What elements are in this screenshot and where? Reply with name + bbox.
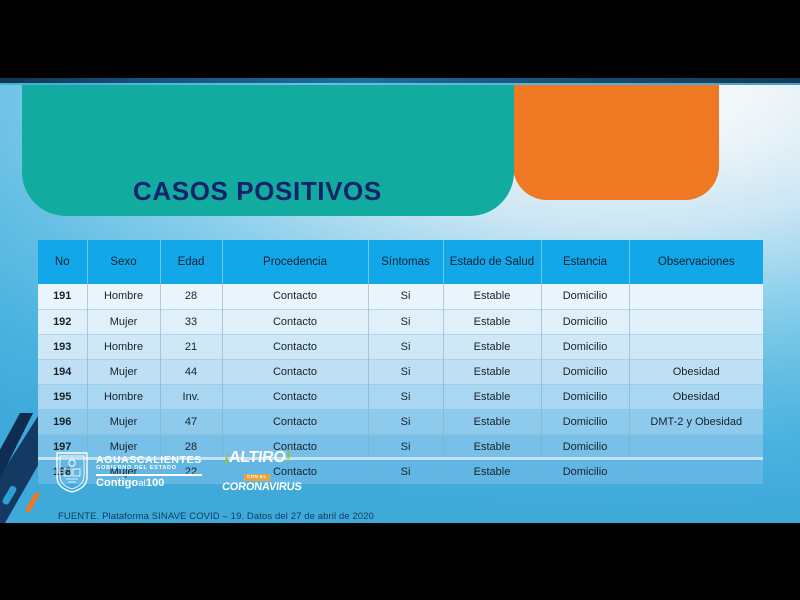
cell-edad: 47	[160, 409, 222, 434]
altiro-sub: CORONAVIRUS	[221, 482, 292, 493]
cell-estancia: Domicilio	[541, 359, 629, 384]
cell-sexo: Mujer	[87, 409, 160, 434]
cell-estancia: Domicilio	[541, 409, 629, 434]
page-title: CASOS POSITIVOS	[133, 176, 382, 207]
cell-estancia: Domicilio	[541, 309, 629, 334]
cell-edad: 44	[160, 359, 222, 384]
column-header-no: No	[38, 240, 87, 284]
cell-edad: Inv.	[160, 384, 222, 409]
cell-estado-de-salud: Estable	[443, 359, 541, 384]
cell-observaciones	[629, 459, 763, 484]
altiro-main: ALTIRO	[228, 449, 286, 466]
orange-banner-shape	[513, 85, 719, 200]
cell-estado-de-salud: Estable	[443, 384, 541, 409]
screenshot-canvas: CASOS POSITIVOS No Sexo Edad	[0, 0, 800, 600]
cell-sintomas: Si	[368, 309, 443, 334]
cell-estado-de-salud: Estable	[443, 459, 541, 484]
cell-procedencia: Contacto	[222, 409, 368, 434]
presentation-slide: CASOS POSITIVOS No Sexo Edad	[0, 78, 800, 523]
table-row: 196Mujer47ContactoSiEstableDomicilioDMT-…	[38, 409, 763, 434]
column-header-procedencia: Procedencia	[222, 240, 368, 284]
cell-no: 192	[38, 309, 87, 334]
cell-procedencia: Contacto	[222, 359, 368, 384]
cell-procedencia: Contacto	[222, 384, 368, 409]
altiro-logo: ¡ALTIRO! CON EL CORONAVIRUS	[218, 450, 292, 493]
altiro-tag: CON EL	[244, 474, 270, 481]
footer-logo-group: AGUASCALIENTES GOBIERNO DEL ESTADO Conti…	[55, 450, 292, 493]
cell-edad: 28	[160, 284, 222, 309]
cell-sexo: Mujer	[87, 359, 160, 384]
ags-brand-line: Contigoal100	[96, 478, 202, 489]
cell-sexo: Hombre	[87, 334, 160, 359]
column-header-estancia: Estancia	[541, 240, 629, 284]
cell-estancia: Domicilio	[541, 459, 629, 484]
column-header-sexo: Sexo	[87, 240, 160, 284]
cell-edad: 21	[160, 334, 222, 359]
table-row: 191Hombre28ContactoSiEstableDomicilio	[38, 284, 763, 309]
cell-sintomas: Si	[368, 459, 443, 484]
cell-estancia: Domicilio	[541, 284, 629, 309]
cell-edad: 33	[160, 309, 222, 334]
cell-sintomas: Si	[368, 384, 443, 409]
altiro-main-line: ¡ALTIRO!	[223, 450, 291, 466]
aguascalientes-logo: AGUASCALIENTES GOBIERNO DEL ESTADO Conti…	[55, 451, 202, 493]
table-header-row: No Sexo Edad Procedencia Síntomas Estado…	[38, 240, 763, 284]
cell-estado-de-salud: Estable	[443, 434, 541, 459]
source-note: FUENTE. Plataforma SINAVE COVID – 19. Da…	[58, 511, 374, 522]
cell-sexo: Hombre	[87, 384, 160, 409]
cell-sintomas: Si	[368, 284, 443, 309]
column-header-sintomas: Síntomas	[368, 240, 443, 284]
aguascalientes-wordmark: AGUASCALIENTES GOBIERNO DEL ESTADO Conti…	[96, 455, 202, 489]
cell-estancia: Domicilio	[541, 334, 629, 359]
positive-cases-table: No Sexo Edad Procedencia Síntomas Estado…	[38, 240, 763, 484]
table-row: 192Mujer33ContactoSiEstableDomicilio	[38, 309, 763, 334]
cell-observaciones: DMT-2 y Obesidad	[629, 409, 763, 434]
altiro-bang-close: !	[284, 449, 291, 466]
cell-no: 193	[38, 334, 87, 359]
top-rule-highlight	[0, 83, 800, 85]
ags-line-2: GOBIERNO DEL ESTADO	[96, 466, 202, 472]
ags-brand-thin: al	[138, 478, 146, 489]
cell-no: 194	[38, 359, 87, 384]
cell-no: 191	[38, 284, 87, 309]
cell-estado-de-salud: Estable	[443, 284, 541, 309]
cell-estado-de-salud: Estable	[443, 409, 541, 434]
cell-sintomas: Si	[368, 359, 443, 384]
cell-observaciones	[629, 334, 763, 359]
cell-observaciones: Obesidad	[629, 359, 763, 384]
cell-no: 196	[38, 409, 87, 434]
cell-observaciones: Obesidad	[629, 384, 763, 409]
cell-estancia: Domicilio	[541, 384, 629, 409]
cell-no: 195	[38, 384, 87, 409]
table-row: 195HombreInv.ContactoSiEstableDomicilioO…	[38, 384, 763, 409]
cell-observaciones	[629, 284, 763, 309]
coat-of-arms-icon	[55, 451, 89, 493]
cell-procedencia: Contacto	[222, 284, 368, 309]
cell-sintomas: Si	[368, 409, 443, 434]
cell-observaciones	[629, 309, 763, 334]
table-row: 193Hombre21ContactoSiEstableDomicilio	[38, 334, 763, 359]
cell-estado-de-salud: Estable	[443, 309, 541, 334]
ags-divider	[96, 474, 202, 476]
cell-procedencia: Contacto	[222, 334, 368, 359]
cell-sintomas: Si	[368, 334, 443, 359]
cell-sintomas: Si	[368, 434, 443, 459]
column-header-estado-de-salud: Estado de Salud	[443, 240, 541, 284]
cell-sexo: Hombre	[87, 284, 160, 309]
column-header-edad: Edad	[160, 240, 222, 284]
cell-sexo: Mujer	[87, 309, 160, 334]
ags-brand-bold: Contigo	[96, 477, 138, 489]
cell-estado-de-salud: Estable	[443, 334, 541, 359]
table-row: 194Mujer44ContactoSiEstableDomicilioObes…	[38, 359, 763, 384]
ags-line-1: AGUASCALIENTES	[96, 455, 202, 466]
cell-observaciones	[629, 434, 763, 459]
ags-brand-num: 100	[146, 477, 165, 489]
cell-procedencia: Contacto	[222, 309, 368, 334]
cell-estancia: Domicilio	[541, 434, 629, 459]
column-header-observaciones: Observaciones	[629, 240, 763, 284]
